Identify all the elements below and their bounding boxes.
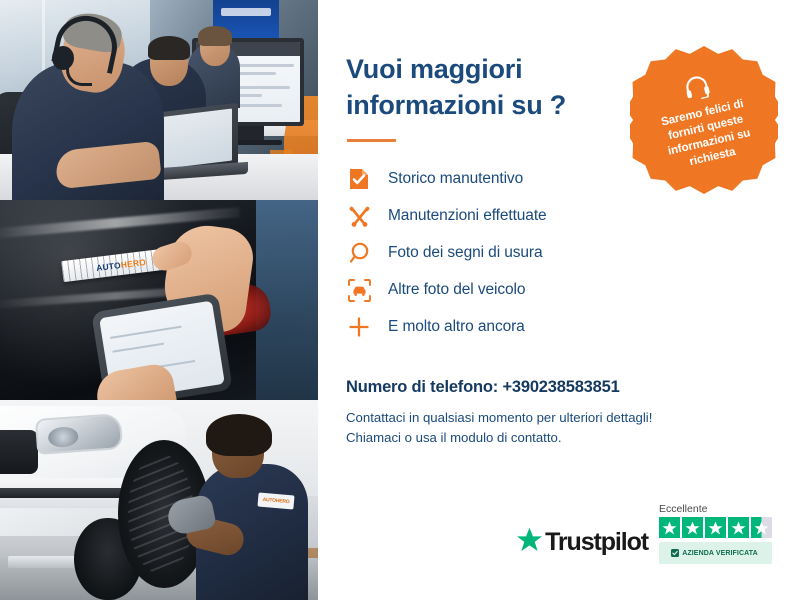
content-panel: Vuoi maggiori informazioni su ? Storico … <box>318 0 800 600</box>
car-grille <box>0 430 38 474</box>
list-item-label: Manutenzioni effettuate <box>388 207 547 225</box>
headline-line-1: Vuoi maggiori <box>346 54 522 84</box>
verified-company-badge: AZIENDA VERIFICATA <box>659 542 772 564</box>
uniform-logo: AUTOHERO <box>257 492 294 509</box>
contact-block: Numero di telefono: +390238583851 Contat… <box>346 378 800 448</box>
agent-background-1-hair <box>148 36 190 60</box>
trustpilot-brand-name: Trustpilot <box>545 528 648 557</box>
call-center-agents-photo <box>0 0 318 200</box>
trustpilot-rating-label: Eccellente <box>659 503 707 515</box>
verified-company-text: AZIENDA VERIFICATA <box>682 550 758 557</box>
laptop-screen <box>158 108 232 169</box>
car-headlight <box>35 413 123 455</box>
page-title: Vuoi maggiori informazioni su ? <box>346 52 616 123</box>
list-item: Manutenzioni effettuate <box>346 199 800 233</box>
title-underline-rule <box>347 139 396 142</box>
phone-number[interactable]: +390238583851 <box>502 378 619 396</box>
list-item: Altre foto del veicolo <box>346 273 800 307</box>
trustpilot-star-filled <box>682 517 703 538</box>
damage-measure-photo: AUTOHERO <box>0 200 318 400</box>
agent-background-2-hair <box>198 26 232 46</box>
trustpilot-stars <box>659 517 772 538</box>
contact-description-line-2: Chiamaci o usa il modulo di contatto. <box>346 430 562 445</box>
list-item-label: E molto altro ancora <box>388 318 525 336</box>
badge-text: Saremo felici di fornirti queste informa… <box>644 94 770 178</box>
mechanic-hair <box>206 414 272 456</box>
phone-label: Numero di telefono: <box>346 378 498 396</box>
list-item: Foto dei segni di usura <box>346 236 800 270</box>
headset-icon <box>681 72 714 107</box>
car-scan-icon <box>346 277 372 303</box>
list-item: E molto altro ancora <box>346 310 800 344</box>
headset-earcup <box>52 46 74 70</box>
promo-banner: AUTOHERO <box>0 0 800 600</box>
trustpilot-star-filled <box>728 517 749 538</box>
verified-check-icon <box>671 544 679 562</box>
contact-description: Contattaci in qualsiasi momento per ulte… <box>346 408 800 448</box>
contact-description-line-1: Contattaci in qualsiasi momento per ulte… <box>346 410 652 425</box>
magnifier-icon <box>346 240 372 266</box>
trustpilot-star-filled <box>705 517 726 538</box>
mechanic-inspection-photo: AUTOHERO <box>0 400 318 600</box>
request-info-badge: Saremo felici di fornirti queste informa… <box>630 46 778 194</box>
headline-line-2: informazioni su ? <box>346 90 566 120</box>
plus-icon <box>346 314 372 340</box>
tools-cross-icon <box>346 203 372 229</box>
list-item-label: Altre foto del veicolo <box>388 281 525 299</box>
trustpilot-logo: Trustpilot <box>516 527 648 564</box>
trustpilot-star-half <box>751 517 772 538</box>
clipboard-check-icon <box>346 166 372 192</box>
trustpilot-widget[interactable]: Trustpilot Eccellente <box>516 503 772 564</box>
trustpilot-star-icon <box>516 527 543 558</box>
trustpilot-star-filled <box>659 517 680 538</box>
list-item-label: Storico manutentivo <box>388 170 523 188</box>
phone-line: Numero di telefono: +390238583851 <box>346 378 800 397</box>
photo-column: AUTOHERO <box>0 0 318 600</box>
trustpilot-rating: Eccellente <box>659 503 772 564</box>
list-item-label: Foto dei segni di usura <box>388 244 543 262</box>
badge-content: Saremo felici di fornirti queste informa… <box>615 31 792 208</box>
